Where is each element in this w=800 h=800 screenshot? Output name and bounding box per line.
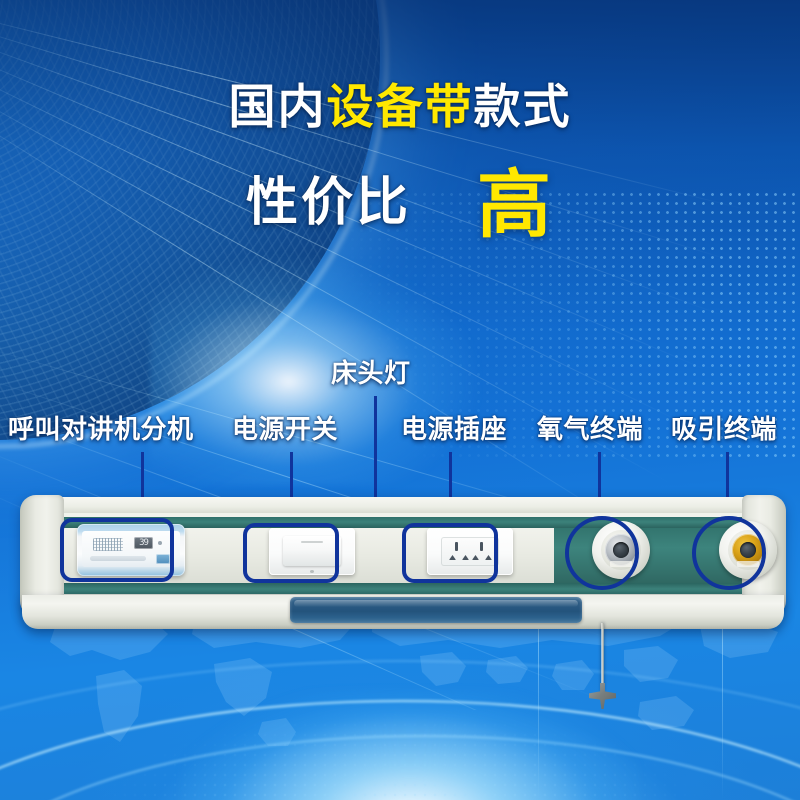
highlight-box-intercom <box>60 518 174 582</box>
halftone-dot-field-bottom <box>0 610 800 800</box>
subheadline-emphasis: 高 <box>477 162 554 248</box>
suction-hose-cord <box>601 623 604 691</box>
vertical-grid-line-2 <box>722 620 723 800</box>
vertical-grid-line-1 <box>538 620 539 800</box>
headline-highlight: 设备带 <box>327 80 474 135</box>
highlight-circle-suction <box>692 516 766 590</box>
callout-label-socket: 电源插座 <box>401 417 507 443</box>
callout-label-intercom: 呼叫对讲机分机 <box>8 417 194 443</box>
panel-top-bevel <box>22 497 784 513</box>
highlight-box-socket <box>402 523 498 583</box>
subheadline-text: 性价比 <box>246 173 411 233</box>
headline-part-1: 国内 <box>229 80 327 135</box>
callout-label-oxygen: 氧气终端 <box>537 417 643 443</box>
headline-part-3: 款式 <box>474 80 572 135</box>
callout-label-bedlight: 床头灯 <box>331 361 411 387</box>
panel-stripe-bottom <box>32 583 774 594</box>
headline: 国内设备带款式 <box>0 84 800 131</box>
promo-banner: 国内设备带款式 性价比高 呼叫对讲机分机 床头灯 电源开关 电源插座 氧气终端 … <box>0 0 800 800</box>
callout-label-powerswitch: 电源开关 <box>232 417 338 443</box>
highlight-box-powerswitch <box>243 523 339 583</box>
highlight-circle-oxygen <box>565 516 639 590</box>
subheadline: 性价比高 <box>0 168 800 242</box>
callout-label-suction: 吸引终端 <box>671 417 777 443</box>
panel-rail-glass-insert <box>290 597 582 623</box>
